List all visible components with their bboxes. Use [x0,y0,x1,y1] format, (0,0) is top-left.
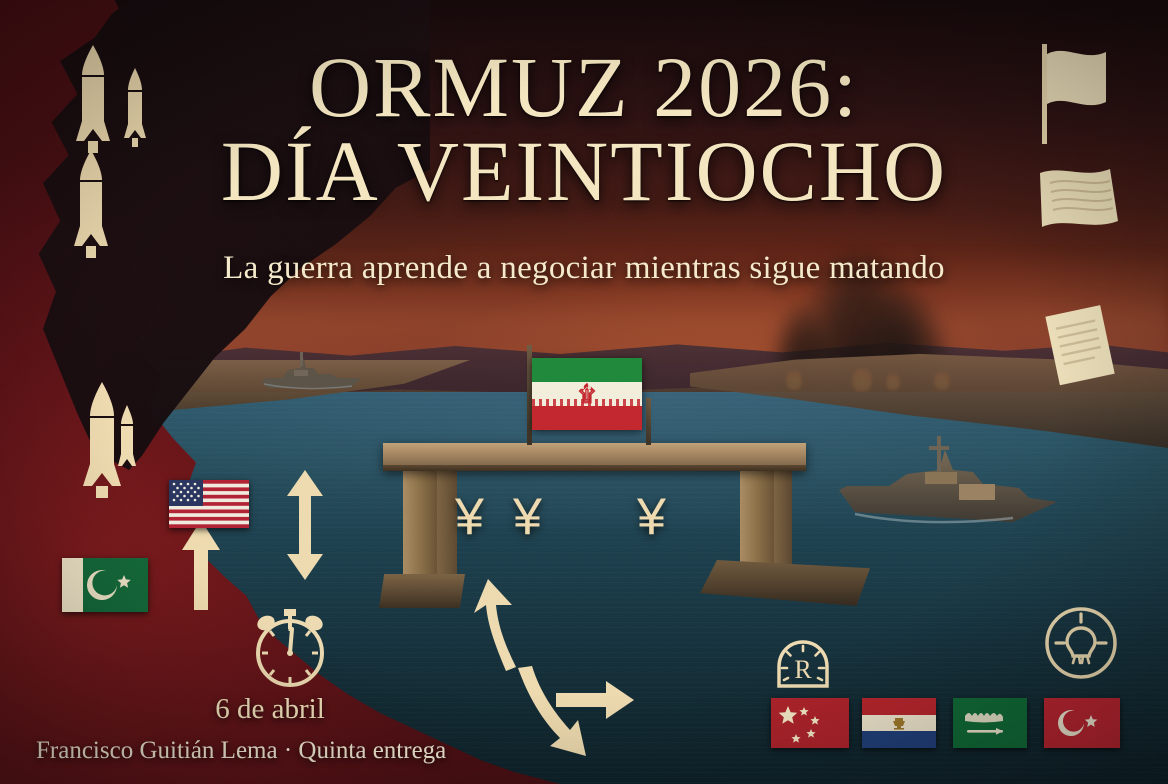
iran-flag-kufic-top [532,382,642,389]
poster-root: ۩ ¥ ¥ ¥ [0,0,1168,784]
iran-flag-green-band [532,358,642,382]
missile-small-top [120,68,150,150]
iran-flag-white-band: ۩ [532,382,642,406]
page-subtitle: La guerra aprende a negociar mientras si… [0,250,1168,287]
bridge-pier-right-inner [774,468,792,572]
arrow-right-icon [556,678,636,722]
document-icon-right [1036,300,1126,390]
white-flag-icon [1036,40,1128,150]
missile-large-mid [68,150,114,260]
arrow-curve-up-icon [462,575,532,675]
missile-large-top [70,45,116,155]
arrow-up-icon [178,520,224,610]
bridge-pontoon-left [379,574,465,608]
flag-china [771,698,849,748]
yen-symbol-2: ¥ [513,487,542,547]
bridge-pier-left-inner [437,468,457,578]
flag-united-states [169,480,249,528]
warship-left [258,348,368,396]
byline: Francisco Guitián Lema · Quinta entrega [36,737,446,765]
yen-glyph: ¥ [637,488,666,546]
flag-egypt [862,698,936,748]
lightbulb-badge-icon [1042,604,1120,682]
bridge-deck [383,443,806,471]
flag-turkey [1044,698,1120,748]
iran-flag-kufic-bottom [532,399,642,406]
yen-symbol-1: ¥ [455,487,484,547]
missile-small-lower [114,405,140,475]
yen-glyph: ¥ [513,488,542,546]
document-icon-top [1036,165,1132,237]
yen-glyph: ¥ [455,488,484,546]
iran-flag-red-band [532,406,642,430]
yen-symbol-3: ¥ [637,487,666,547]
warship-right [833,428,1063,548]
registered-badge-icon: R [771,636,835,698]
registered-badge-letter: R [794,655,812,684]
date-label: 6 de abril [170,693,370,726]
iran-flag: ۩ [532,358,642,430]
stopwatch-icon [242,601,338,691]
flag-saudi-arabia [953,698,1027,748]
flag-mast-right [646,398,651,445]
arrow-up-down-icon [281,470,329,580]
flag-pakistan [62,558,148,612]
